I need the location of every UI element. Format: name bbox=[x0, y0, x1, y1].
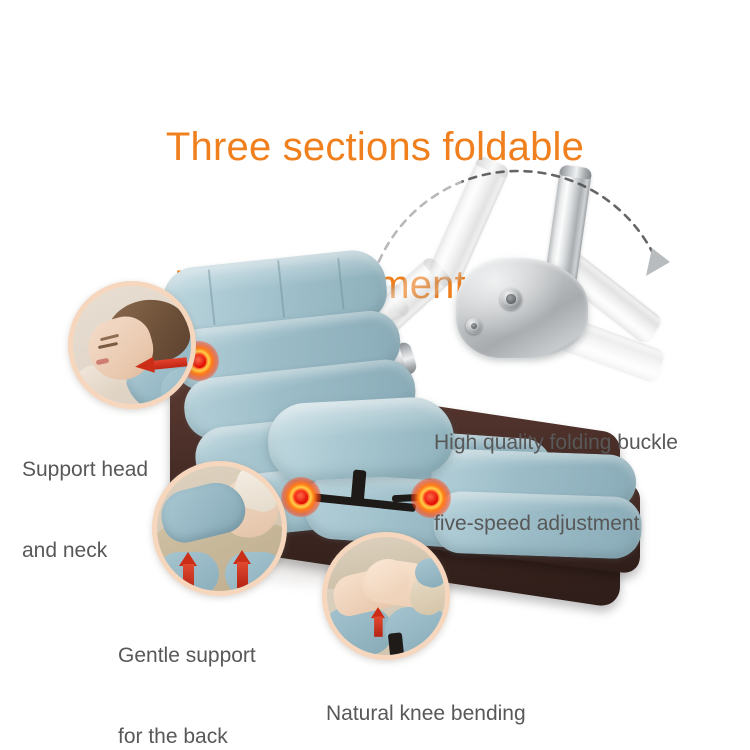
knee-shape bbox=[367, 559, 409, 599]
caption-line: High quality folding buckle bbox=[434, 429, 678, 456]
caption-folding-buckle: High quality folding buckle five-speed a… bbox=[434, 375, 678, 591]
caption-line: Support head bbox=[22, 456, 148, 483]
caption-line: five-speed adjustment bbox=[434, 510, 678, 537]
red-arrow-up-icon bbox=[233, 550, 251, 588]
hinge-glow-marker bbox=[281, 477, 321, 517]
caption-line: for the back bbox=[118, 723, 256, 750]
arrow-head bbox=[134, 357, 155, 375]
caption-back-support: Gentle support for the back bbox=[118, 588, 256, 750]
callout-image-head-neck bbox=[73, 286, 191, 404]
callout-image-knee-bending bbox=[327, 537, 445, 655]
caption-line: Natural knee bending bbox=[326, 700, 526, 727]
caption-head-neck: Support head and neck bbox=[22, 402, 148, 618]
arrow-shaft bbox=[153, 357, 188, 370]
red-arrow-up-icon bbox=[179, 552, 197, 590]
callout-bubble-back-support[interactable] bbox=[152, 461, 287, 596]
callout-bubble-knee-bending[interactable] bbox=[322, 532, 450, 660]
caption-line: Gentle support bbox=[118, 642, 256, 669]
arrow-shaft bbox=[374, 617, 383, 637]
red-arrow-up-icon bbox=[371, 607, 385, 637]
arrow-shaft bbox=[183, 564, 194, 590]
product-infographic: Three sections foldable Free adjustment … bbox=[0, 0, 750, 750]
caption-line: and neck bbox=[22, 537, 148, 564]
callout-bubble-head-neck[interactable] bbox=[68, 281, 196, 409]
callout-image-back-support bbox=[157, 466, 282, 591]
caption-knee-bending: Natural knee bending bbox=[326, 646, 526, 750]
arrow-shaft bbox=[237, 562, 248, 588]
